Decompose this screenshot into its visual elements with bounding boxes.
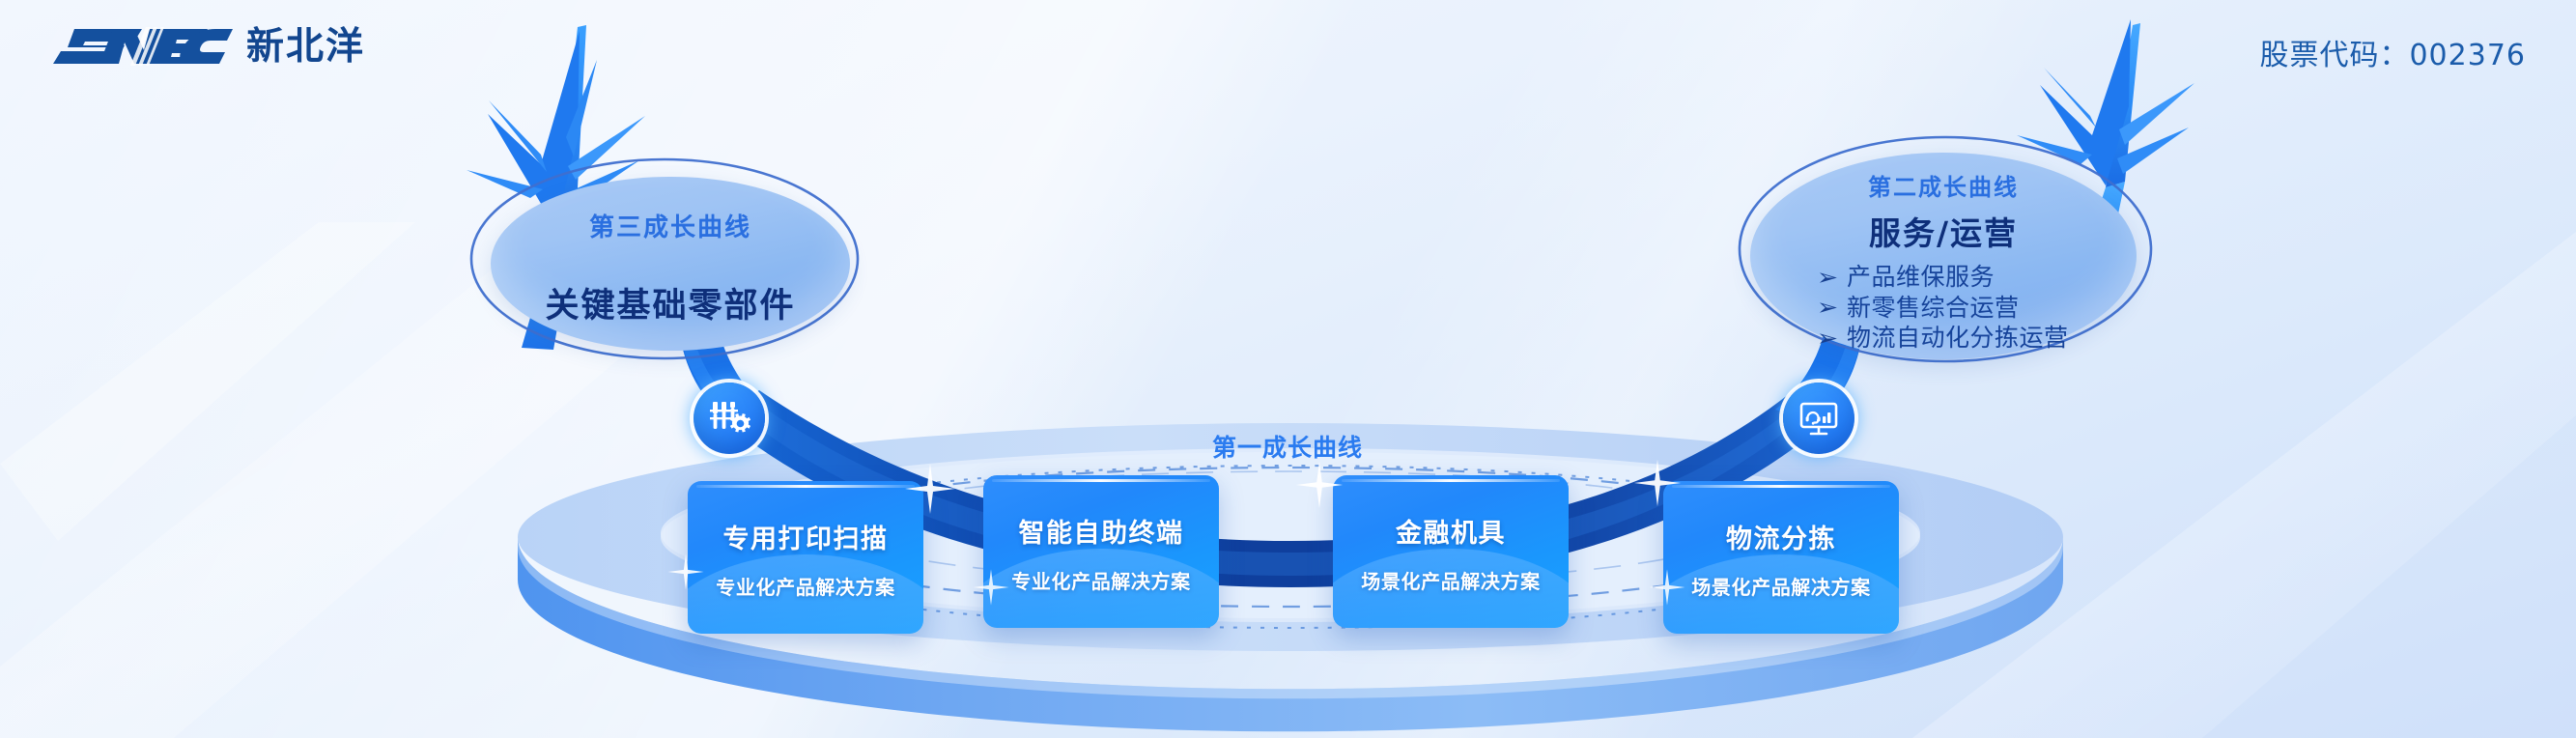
card-subtitle: 专业化产品解决方案 bbox=[1011, 566, 1190, 594]
card-title: 专用打印扫描 bbox=[723, 518, 889, 555]
bubble-three-body: 第三成长曲线 关键基础零部件 bbox=[491, 177, 850, 351]
card-subtitle: 专业化产品解决方案 bbox=[716, 572, 894, 600]
monitor-headset-chart-icon bbox=[1798, 397, 1840, 440]
card-subtitle: 场景化产品解决方案 bbox=[1361, 566, 1540, 594]
snbc-wordmark-icon bbox=[53, 21, 233, 71]
list-item: ➢ 物流自动化分拣运营 bbox=[1818, 323, 2068, 354]
slide-canvas: 新北洋 股票代码：002376 第一成长曲线 第三成长曲线 关键基础零部件 第二… bbox=[0, 0, 2576, 738]
sliders-gear-icon bbox=[708, 397, 750, 440]
node-service-operations[interactable] bbox=[1783, 383, 1854, 454]
bullet-arrow-icon: ➢ bbox=[1817, 266, 1839, 289]
card-top-edge bbox=[1342, 479, 1560, 482]
card-product-line[interactable]: 专用打印扫描 专业化产品解决方案 bbox=[688, 481, 923, 634]
bubble-two-title: 服务/运营 bbox=[1869, 208, 2018, 254]
bubble-three-kicker: 第三成长曲线 bbox=[589, 208, 751, 243]
card-product-line[interactable]: 物流分拣 场景化产品解决方案 bbox=[1663, 481, 1899, 634]
list-item-label: 产品维保服务 bbox=[1847, 262, 1995, 293]
bubble-two-kicker: 第二成长曲线 bbox=[1868, 168, 2019, 202]
card-top-edge bbox=[696, 485, 915, 488]
bubble-two-body: 第二成长曲线 服务/运营 ➢ 产品维保服务 ➢ 新零售综合运营 ➢ 物流自动化分… bbox=[1750, 153, 2137, 359]
brand-logo-cn: 新北洋 bbox=[246, 28, 365, 66]
background-artwork bbox=[0, 0, 2576, 738]
card-title: 金融机具 bbox=[1396, 512, 1506, 550]
card-product-line[interactable]: 智能自助终端 专业化产品解决方案 bbox=[983, 475, 1219, 628]
card-top-edge bbox=[992, 479, 1210, 482]
card-subtitle: 场景化产品解决方案 bbox=[1691, 572, 1870, 600]
bullet-arrow-icon: ➢ bbox=[1817, 296, 1839, 319]
card-top-edge bbox=[1672, 485, 1890, 488]
card-title: 物流分拣 bbox=[1726, 518, 1836, 555]
bubble-two-item-list: ➢ 产品维保服务 ➢ 新零售综合运营 ➢ 物流自动化分拣运营 bbox=[1818, 262, 2068, 354]
bullet-arrow-icon: ➢ bbox=[1817, 326, 1839, 350]
brand-logo: 新北洋 bbox=[53, 21, 365, 71]
node-key-components[interactable] bbox=[694, 383, 765, 454]
card-title: 智能自助终端 bbox=[1019, 512, 1184, 550]
bubble-third-growth-curve[interactable]: 第三成长曲线 关键基础零部件 bbox=[477, 169, 863, 362]
bubble-second-growth-curve[interactable]: 第二成长曲线 服务/运营 ➢ 产品维保服务 ➢ 新零售综合运营 ➢ 物流自动化分… bbox=[1739, 143, 2148, 367]
list-item-label: 物流自动化分拣运营 bbox=[1847, 323, 2069, 354]
bubble-three-title: 关键基础零部件 bbox=[545, 278, 795, 327]
stock-code-label: 股票代码：002376 bbox=[2259, 31, 2526, 73]
card-product-line[interactable]: 金融机具 场景化产品解决方案 bbox=[1333, 475, 1569, 628]
list-item-label: 新零售综合运营 bbox=[1847, 293, 2020, 324]
list-item: ➢ 产品维保服务 bbox=[1818, 262, 2068, 293]
list-item: ➢ 新零售综合运营 bbox=[1818, 293, 2068, 324]
curve-one-label: 第一成长曲线 bbox=[1212, 429, 1363, 464]
